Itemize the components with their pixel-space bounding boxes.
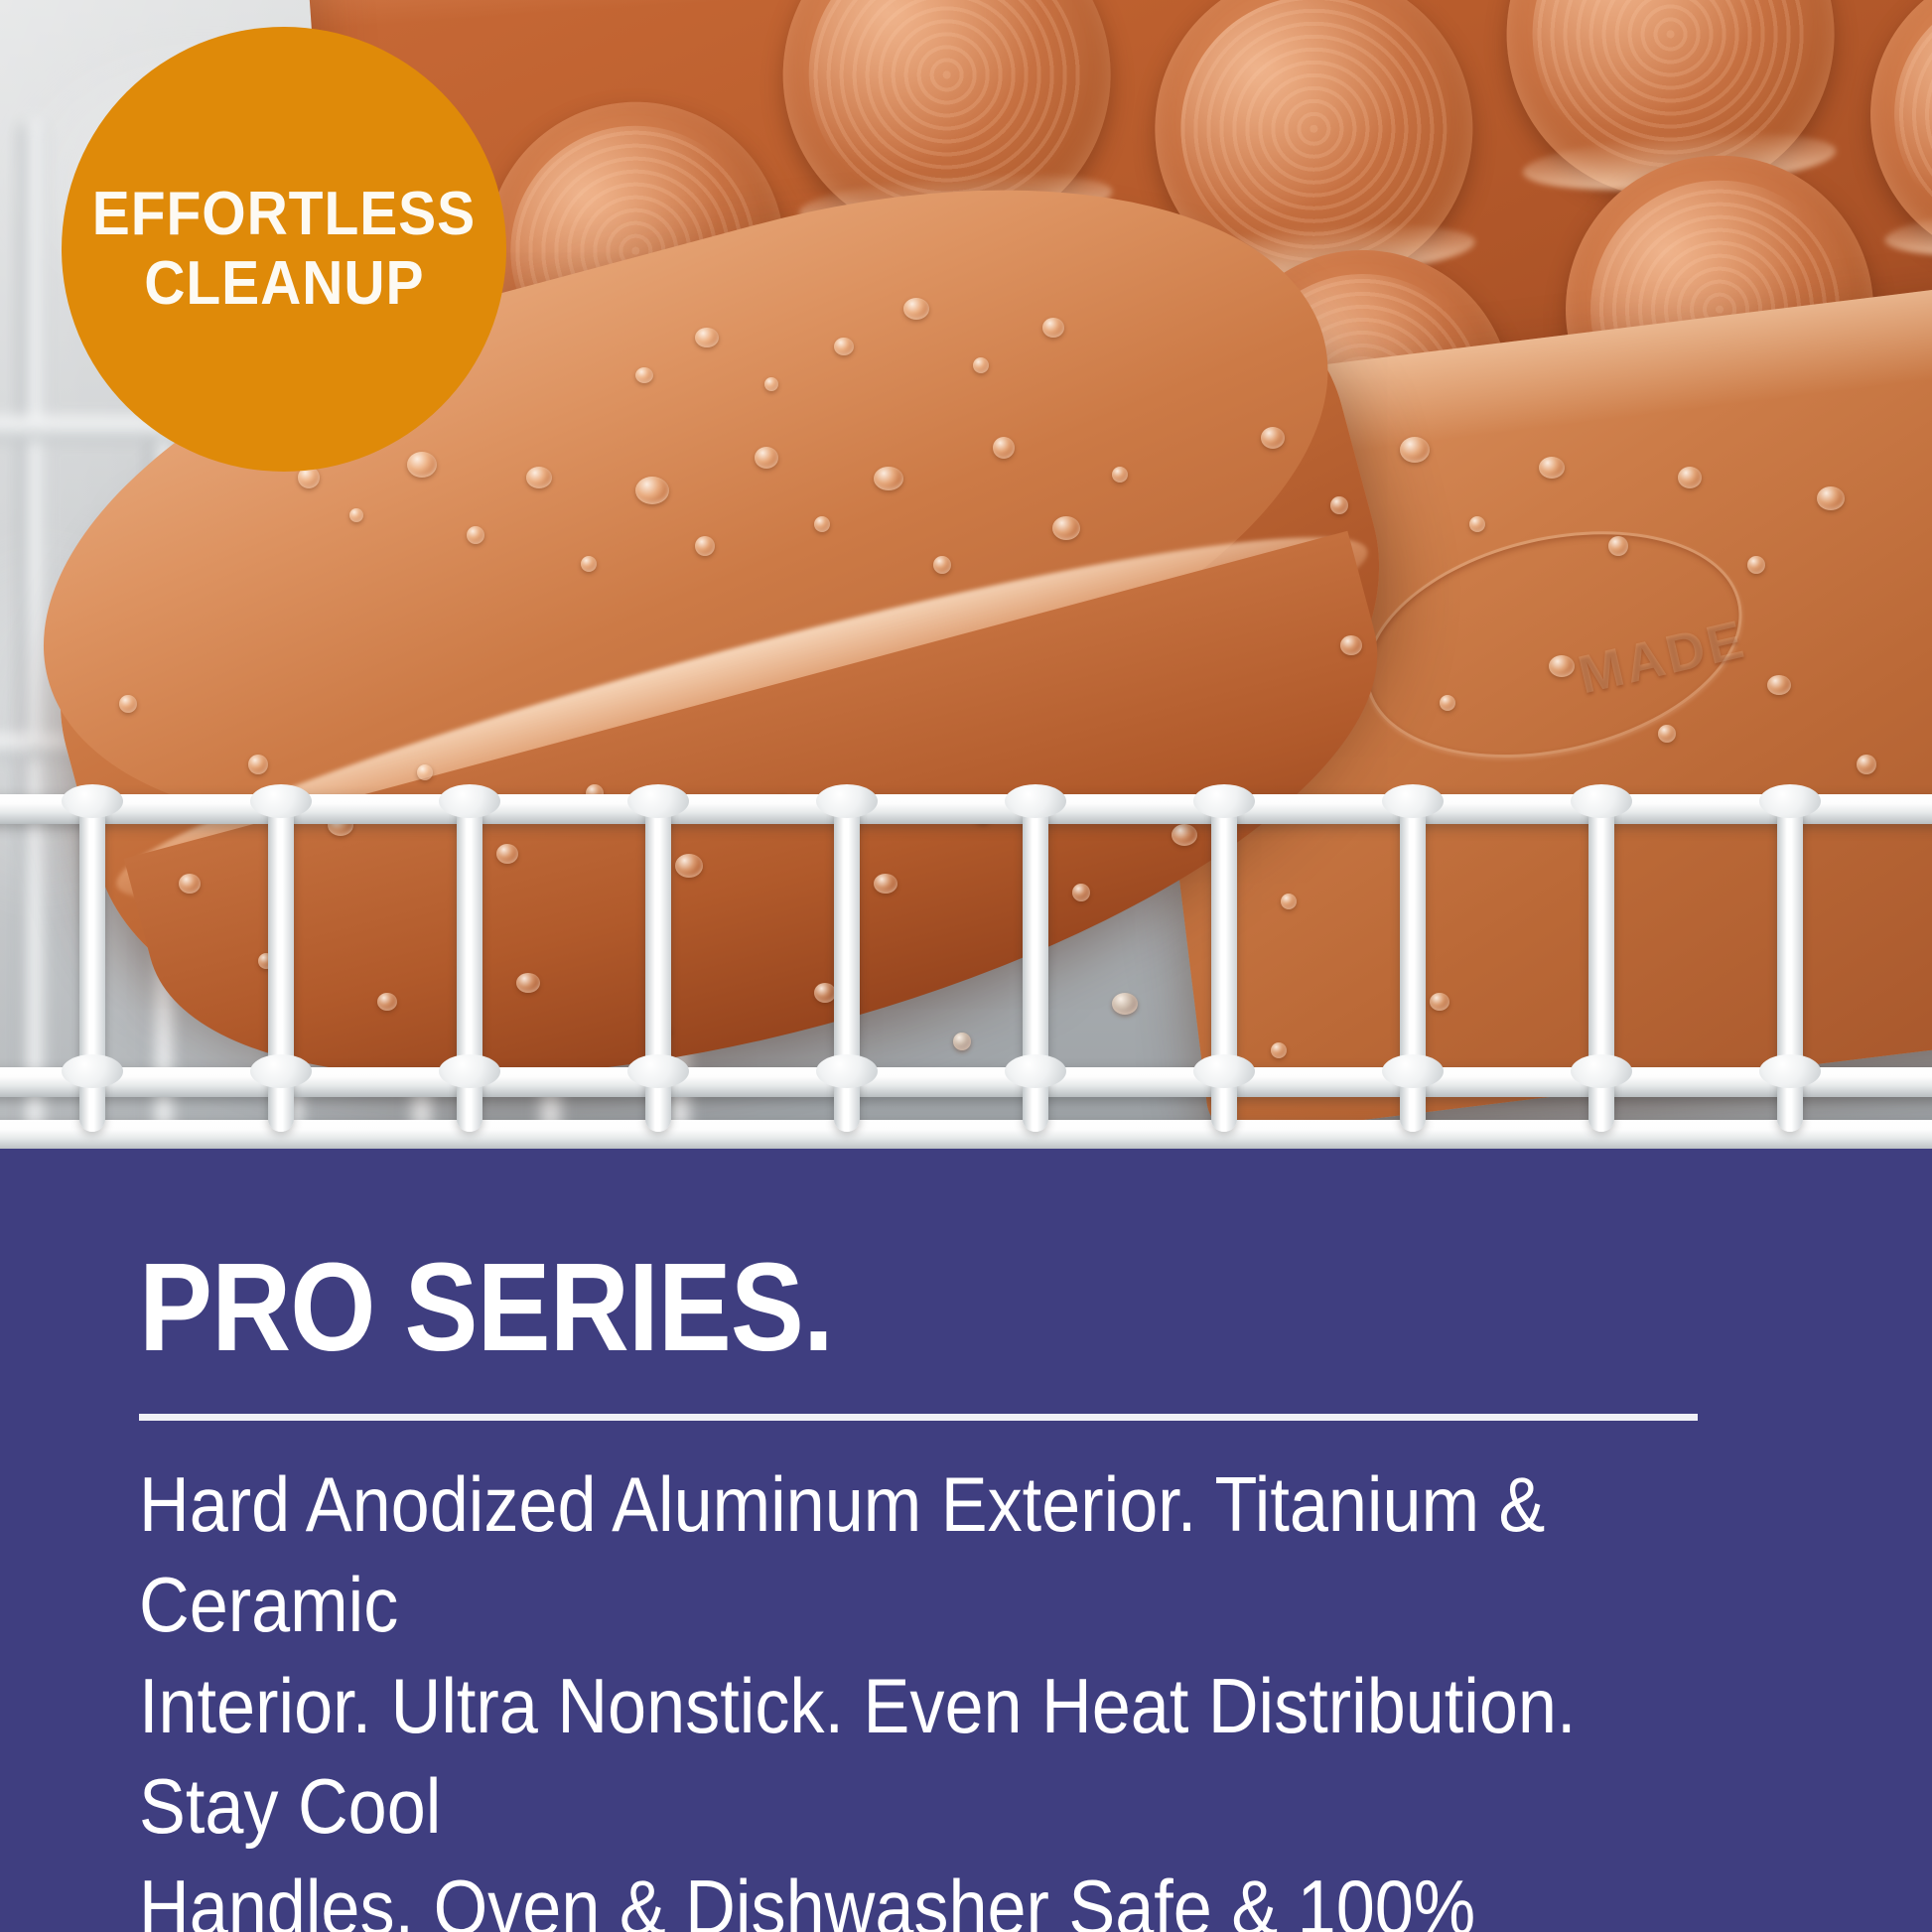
product-banner: MADE	[0, 0, 1932, 1932]
effortless-cleanup-badge: EFFORTLESS CLEANUP	[62, 27, 506, 472]
feature-description: Hard Anodized Aluminum Exterior. Titaniu…	[139, 1421, 1627, 1932]
bakeware-in-dishwasher-photo: MADE	[0, 0, 1932, 1149]
page-title: PRO SERIES.	[139, 1149, 1594, 1370]
badge-line-1: EFFORTLESS	[92, 184, 476, 245]
badge-line-2: CLEANUP	[144, 253, 424, 315]
title-divider	[139, 1414, 1698, 1421]
pro-series-info-panel: PRO SERIES. Hard Anodized Aluminum Exter…	[0, 1149, 1932, 1932]
